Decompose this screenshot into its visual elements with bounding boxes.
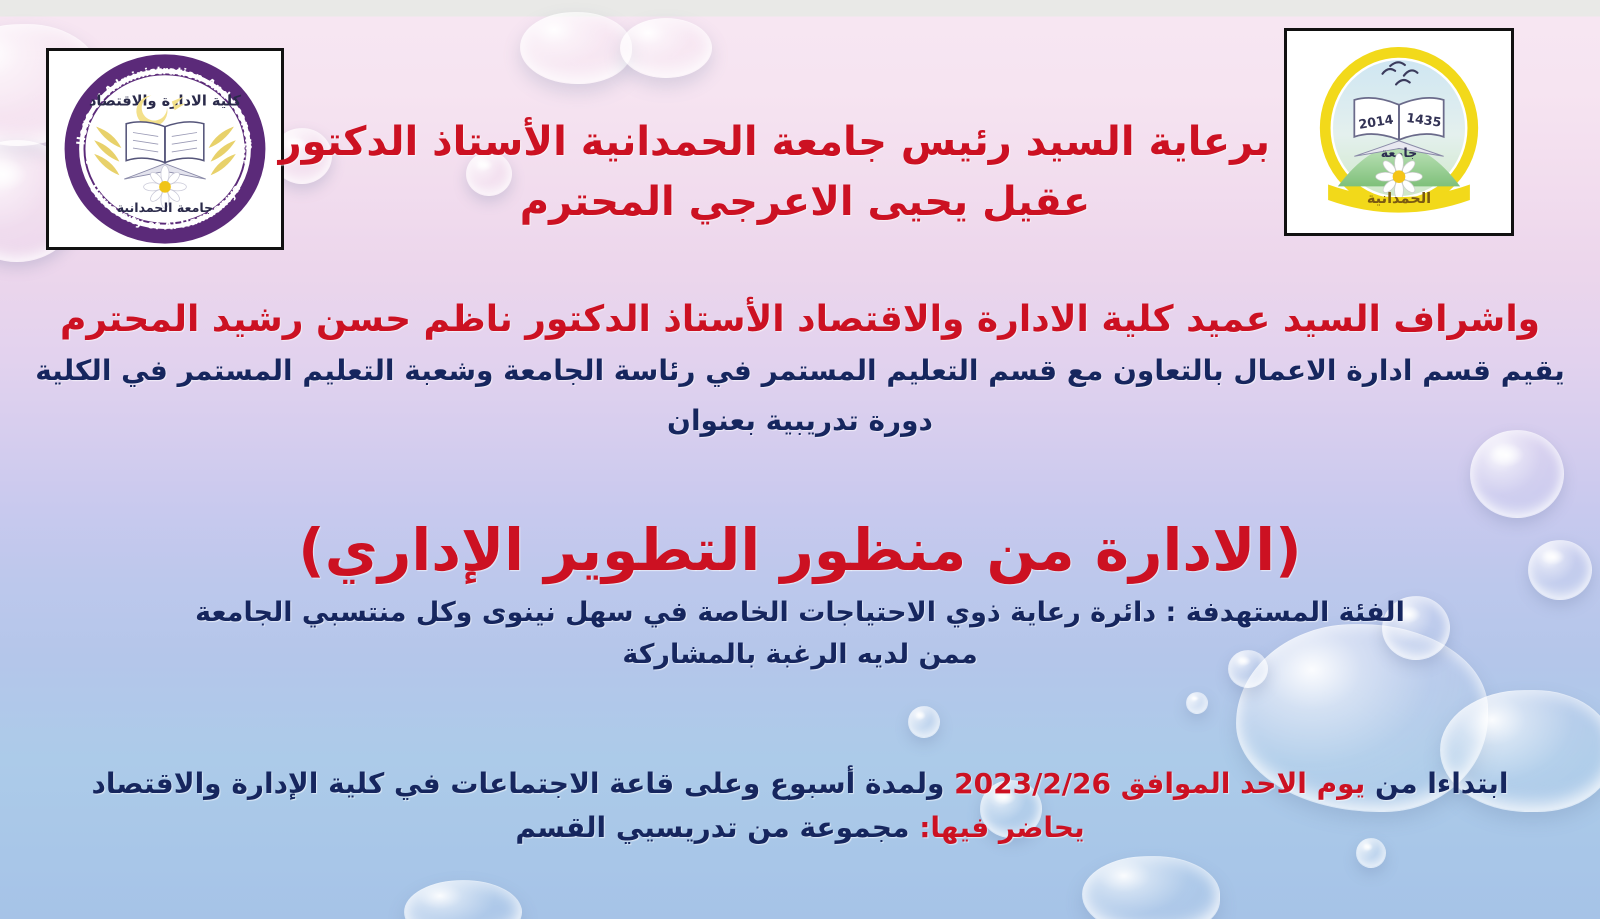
schedule-line: ابتداءا من يوم الاحد الموافق 2023/2/26 و…: [0, 768, 1600, 799]
droplet-decoration: [404, 880, 522, 919]
target-audience-line-1: الفئة المستهدفة : دائرة رعاية ذوي الاحتي…: [0, 598, 1600, 628]
droplet-decoration: [1470, 430, 1564, 518]
sponsor-line-1: برعاية السيد رئيس جامعة الحمدانية الأستا…: [340, 120, 1270, 165]
college-seal-icon: College Of Administration And Economic U…: [49, 51, 281, 247]
schedule-venue: ولمدة أسبوع وعلى قاعة الاجتماعات في كلية…: [91, 767, 944, 800]
university-seal-icon: 2014 1435 جامعة الحمدانية: [1287, 31, 1511, 233]
poster-canvas: College Of Administration And Economic U…: [0, 0, 1600, 919]
svg-text:1436: 1436: [85, 143, 94, 165]
schedule-prefix: ابتداءا من: [1375, 767, 1509, 800]
svg-text:الحمدانية: الحمدانية: [1367, 190, 1431, 207]
college-logo: College Of Administration And Economic U…: [46, 48, 284, 250]
university-logo: 2014 1435 جامعة الحمدانية: [1284, 28, 1514, 236]
sponsor-line-2: عقيل يحيى الاعرجي المحترم: [340, 180, 1270, 225]
target-audience-line-2: ممن لديه الرغبة بالمشاركة: [0, 640, 1600, 670]
droplet-decoration: [620, 18, 712, 78]
droplet-decoration: [1082, 856, 1220, 919]
course-label-line: دورة تدريبية بعنوان: [0, 405, 1600, 436]
svg-text:جامعة الحمدانية: جامعة الحمدانية: [117, 200, 214, 215]
lecturer-label: يحاضر فيها:: [919, 811, 1084, 844]
droplet-decoration: [908, 706, 940, 738]
droplet-decoration: [1186, 692, 1208, 714]
organizer-line: يقيم قسم ادارة الاعمال بالتعاون مع قسم ا…: [0, 355, 1600, 386]
supervisor-line: واشراف السيد عميد كلية الادارة والاقتصاد…: [0, 300, 1600, 340]
course-title: (الادارة من منظور التطوير الإداري): [0, 518, 1600, 583]
droplet-decoration: [520, 12, 632, 84]
svg-text:كلية الادارة والاقتصاد: كلية الادارة والاقتصاد: [89, 92, 242, 109]
svg-text:2015: 2015: [238, 143, 247, 165]
schedule-date-highlight: يوم الاحد الموافق 2023/2/26: [954, 767, 1365, 800]
lecturer-value: مجموعة من تدريسيي القسم: [515, 811, 909, 844]
lecturer-line: يحاضر فيها: مجموعة من تدريسيي القسم: [0, 812, 1600, 843]
